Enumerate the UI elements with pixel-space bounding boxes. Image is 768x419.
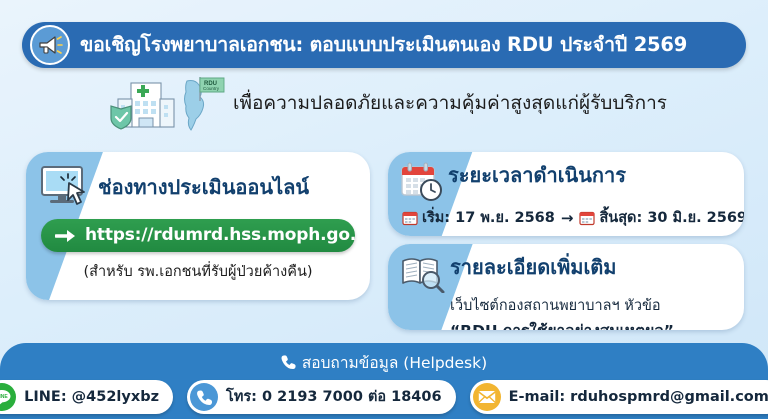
assessment-url-button[interactable]: https://rdumrd.hss.moph.go.th [41,219,355,252]
page-title: ขอเชิญโรงพยาบาลเอกชน: ตอบแบบประเมินตนเอง… [80,35,687,55]
details-card-line1: เว็บไซต์กองสถานพยาบาลฯ หัวข้อ [450,294,744,317]
contact-phone[interactable]: โทร: 0 2193 7000 ต่อ 18406 [187,380,456,414]
online-card-header: ช่องทางประเมินออนไลน์ [26,152,370,210]
header-banner: ขอเชิญโรงพยาบาลเอกชน: ตอบแบบประเมินตนเอง… [22,22,746,68]
hero-illustration: RDU Country [101,75,231,131]
assessment-url-text: https://rdumrd.hss.moph.go.th [85,227,370,244]
line-icon: LINE [0,383,16,411]
calendar-clock-icon [400,161,444,203]
contact-line[interactable]: LINE LINE: @452lyxbz [0,380,173,414]
helpdesk-footer: สอบถามข้อมูล (Helpdesk) LINE LINE: @452l… [0,343,768,419]
svg-text:LINE: LINE [0,394,8,400]
details-card-title: รายละเอียดเพิ่มเติม [450,257,616,278]
rdu-country-flag-icon: RDU Country [200,77,224,101]
contact-email-label: E-mail: rduhospmrd@gmail.com [509,390,768,405]
monitor-cursor-icon [38,164,94,210]
book-search-icon [400,253,446,293]
phone-icon [281,354,296,370]
online-card-title: ช่องทางประเมินออนไลน์ [98,177,309,197]
svg-text:Country: Country [203,86,220,91]
period-start-label: เริ่ม: 17 พ.ย. 2568 [422,206,555,229]
email-icon [473,383,501,411]
mini-calendar-icon [402,210,418,226]
megaphone-icon [30,25,70,65]
period-dates: เริ่ม: 17 พ.ย. 2568 → สิ้นสุด: 30 มิ.ย. … [402,206,744,229]
helpdesk-title-row: สอบถามข้อมูล (Helpdesk) [0,349,768,375]
details-card-header: รายละเอียดเพิ่มเติม [388,244,744,293]
online-assessment-card: ช่องทางประเมินออนไลน์ https://rdumrd.hss… [26,152,370,300]
period-card-header: ระยะเวลาดำเนินการ [388,152,744,203]
details-card: รายละเอียดเพิ่มเติม เว็บไซต์กองสถานพยาบา… [388,244,744,330]
mini-calendar-icon [579,210,595,226]
hero-subtitle: เพื่อความปลอดภัยและความคุ้มค่าสูงสุดแก่ผ… [233,94,667,113]
period-card: ระยะเวลาดำเนินการ เริ่ม: 17 พ.ย. 2568 → [388,152,744,236]
contact-row: LINE LINE: @452lyxbz โทร: 0 2193 7000 ต่… [0,380,768,414]
arrow-right-glyph: → [561,209,574,227]
hero-row: RDU Country เพื่อความปลอดภัยและความคุ้มค… [0,74,768,132]
shield-check-icon [111,106,131,129]
phone-icon [190,383,218,411]
details-card-line2: “RDU การใช้ยาอย่างสมเหตุผล” [450,318,744,330]
infographic-poster: ขอเชิญโรงพยาบาลเอกชน: ตอบแบบประเมินตนเอง… [0,0,768,419]
period-card-title: ระยะเวลาดำเนินการ [448,165,626,186]
contact-email[interactable]: E-mail: rduhospmrd@gmail.com [470,380,768,414]
arrow-right-icon [55,228,77,244]
helpdesk-title: สอบถามข้อมูล (Helpdesk) [302,350,487,375]
period-end-label: สิ้นสุด: 30 มิ.ย. 2569 [599,206,744,229]
online-card-note: (สำหรับ รพ.เอกชนที่รับผู้ป่วยค้างคืน) [26,260,370,283]
contact-phone-label: โทร: 0 2193 7000 ต่อ 18406 [226,390,442,405]
contact-line-label: LINE: @452lyxbz [24,390,159,405]
